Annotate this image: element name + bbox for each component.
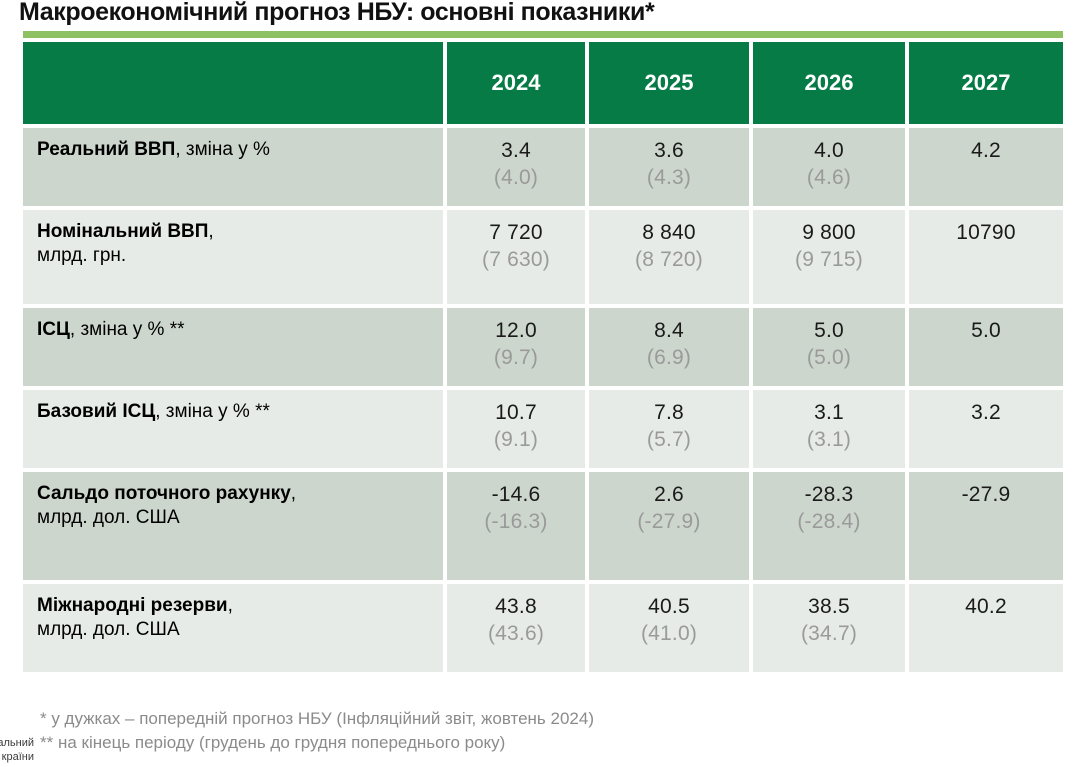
cell-nominal-gdp-2027: 10790 [909, 206, 1063, 304]
cell-previous-value: (4.6) [753, 165, 905, 192]
cell-previous-value: (41.0) [589, 621, 749, 648]
column-header-2026: 2026 [753, 42, 909, 124]
cell-value: 38.5 [753, 594, 905, 621]
cell-value: -28.3 [753, 482, 905, 509]
cell-previous-value: (9.1) [447, 427, 585, 454]
cell-previous-value: (4.3) [589, 165, 749, 192]
cell-previous-value: (9.7) [447, 345, 585, 372]
cell-value: 5.0 [909, 318, 1063, 345]
table-header-row: 2024 2025 2026 2027 [23, 42, 1063, 124]
cell-value: -27.9 [909, 482, 1063, 509]
cell-current-account-2027: -27.9 [909, 468, 1063, 580]
cell-previous-value: (-16.3) [447, 509, 585, 536]
cell-value: 7.8 [589, 400, 749, 427]
row-unit: , [291, 483, 296, 504]
cell-previous-value: (34.7) [753, 621, 905, 648]
column-header-2024: 2024 [447, 42, 589, 124]
cell-nominal-gdp-2026: 9 800 (9 715) [753, 206, 909, 304]
cell-previous-value: (6.9) [589, 345, 749, 372]
table-row: Сальдо поточного рахунку,млрд. дол. США … [23, 468, 1063, 580]
row-name: ІСЦ [37, 319, 70, 340]
row-name: Базовий ІСЦ [37, 401, 155, 422]
cell-cpi-2025: 8.4 (6.9) [589, 304, 753, 386]
cell-core-cpi-2026: 3.1 (3.1) [753, 386, 909, 468]
cell-cpi-2026: 5.0 (5.0) [753, 304, 909, 386]
table-row: Номінальний ВВП,млрд. грн. 7 720 (7 630)… [23, 206, 1063, 304]
table-body: Реальний ВВП, зміна у % 3.4 (4.0) 3.6 (4… [23, 124, 1063, 672]
cell-cpi-2024: 12.0 (9.7) [447, 304, 589, 386]
cell-previous-value: (8 720) [589, 247, 749, 274]
cell-international-reserves-2027: 40.2 [909, 580, 1063, 672]
row-label-real-gdp: Реальний ВВП, зміна у % [23, 124, 447, 206]
forecast-table-container: 2024 2025 2026 2027 Реальний ВВП, зміна … [23, 42, 1063, 672]
row-unit: , зміна у % ** [70, 319, 185, 340]
cell-value: 3.6 [589, 138, 749, 165]
row-unit-line2: млрд. дол. США [37, 618, 443, 642]
cell-international-reserves-2026: 38.5 (34.7) [753, 580, 909, 672]
row-name: Номінальний ВВП [37, 221, 208, 242]
row-label-international-reserves: Міжнародні резерви,млрд. дол. США [23, 580, 447, 672]
cell-previous-value: (-28.4) [753, 509, 905, 536]
table-row: Реальний ВВП, зміна у % 3.4 (4.0) 3.6 (4… [23, 124, 1063, 206]
row-unit-line2: млрд. дол. США [37, 506, 443, 530]
cell-value: 4.2 [909, 138, 1063, 165]
watermark-line-1: альний [0, 737, 34, 751]
forecast-table: 2024 2025 2026 2027 Реальний ВВП, зміна … [23, 42, 1063, 672]
cell-value: 3.4 [447, 138, 585, 165]
nbu-logo-watermark: альний країни [0, 737, 34, 765]
cell-value: 4.0 [753, 138, 905, 165]
cell-value: 9 800 [753, 220, 905, 247]
row-label-current-account: Сальдо поточного рахунку,млрд. дол. США [23, 468, 447, 580]
row-label-core-cpi: Базовий ІСЦ, зміна у % ** [23, 386, 447, 468]
cell-value: 10.7 [447, 400, 585, 427]
cell-real-gdp-2027: 4.2 [909, 124, 1063, 206]
row-unit-line2: млрд. грн. [37, 244, 443, 268]
cell-previous-value: (7 630) [447, 247, 585, 274]
cell-value: 2.6 [589, 482, 749, 509]
cell-previous-value: (4.0) [447, 165, 585, 192]
cell-international-reserves-2024: 43.8 (43.6) [447, 580, 589, 672]
row-unit: , зміна у % [175, 139, 270, 160]
table-row: Міжнародні резерви,млрд. дол. США 43.8 (… [23, 580, 1063, 672]
cell-core-cpi-2025: 7.8 (5.7) [589, 386, 753, 468]
cell-value: 43.8 [447, 594, 585, 621]
footnote-2: ** на кінець періоду (грудень до грудня … [40, 731, 594, 755]
row-label-nominal-gdp: Номінальний ВВП,млрд. грн. [23, 206, 447, 304]
page-title: Макроекономічний прогноз НБУ: основні по… [19, 0, 654, 27]
cell-previous-value: (5.0) [753, 345, 905, 372]
cell-core-cpi-2024: 10.7 (9.1) [447, 386, 589, 468]
column-header-indicator [23, 42, 447, 124]
cell-value: 10790 [909, 220, 1063, 247]
cell-previous-value: (5.7) [589, 427, 749, 454]
title-underline-rule [23, 31, 1063, 38]
row-unit: , [208, 221, 213, 242]
cell-core-cpi-2027: 3.2 [909, 386, 1063, 468]
cell-previous-value: (43.6) [447, 621, 585, 648]
column-header-2027: 2027 [909, 42, 1063, 124]
cell-nominal-gdp-2025: 8 840 (8 720) [589, 206, 753, 304]
cell-value: 5.0 [753, 318, 905, 345]
cell-nominal-gdp-2024: 7 720 (7 630) [447, 206, 589, 304]
cell-previous-value: (-27.9) [589, 509, 749, 536]
footnote-1: * у дужках – попередній прогноз НБУ (Інф… [40, 707, 594, 731]
cell-current-account-2025: 2.6 (-27.9) [589, 468, 753, 580]
row-unit: , зміна у % ** [155, 401, 270, 422]
column-header-2025: 2025 [589, 42, 753, 124]
row-name: Міжнародні резерви [37, 595, 228, 616]
cell-real-gdp-2026: 4.0 (4.6) [753, 124, 909, 206]
table-row: Базовий ІСЦ, зміна у % ** 10.7 (9.1) 7.8… [23, 386, 1063, 468]
footnotes: * у дужках – попередній прогноз НБУ (Інф… [40, 707, 594, 755]
table-header: 2024 2025 2026 2027 [23, 42, 1063, 124]
row-name: Сальдо поточного рахунку [37, 483, 291, 504]
cell-current-account-2024: -14.6 (-16.3) [447, 468, 589, 580]
cell-real-gdp-2025: 3.6 (4.3) [589, 124, 753, 206]
row-unit: , [228, 595, 233, 616]
row-label-cpi: ІСЦ, зміна у % ** [23, 304, 447, 386]
cell-value: -14.6 [447, 482, 585, 509]
cell-value: 40.5 [589, 594, 749, 621]
cell-real-gdp-2024: 3.4 (4.0) [447, 124, 589, 206]
cell-value: 8 840 [589, 220, 749, 247]
cell-value: 7 720 [447, 220, 585, 247]
cell-current-account-2026: -28.3 (-28.4) [753, 468, 909, 580]
cell-value: 8.4 [589, 318, 749, 345]
cell-value: 12.0 [447, 318, 585, 345]
cell-value: 3.1 [753, 400, 905, 427]
row-name: Реальний ВВП [37, 139, 175, 160]
cell-previous-value: (3.1) [753, 427, 905, 454]
cell-value: 40.2 [909, 594, 1063, 621]
cell-international-reserves-2025: 40.5 (41.0) [589, 580, 753, 672]
cell-value: 3.2 [909, 400, 1063, 427]
cell-cpi-2027: 5.0 [909, 304, 1063, 386]
watermark-line-2: країни [0, 751, 34, 765]
cell-previous-value: (9 715) [753, 247, 905, 274]
table-row: ІСЦ, зміна у % ** 12.0 (9.7) 8.4 (6.9) 5… [23, 304, 1063, 386]
